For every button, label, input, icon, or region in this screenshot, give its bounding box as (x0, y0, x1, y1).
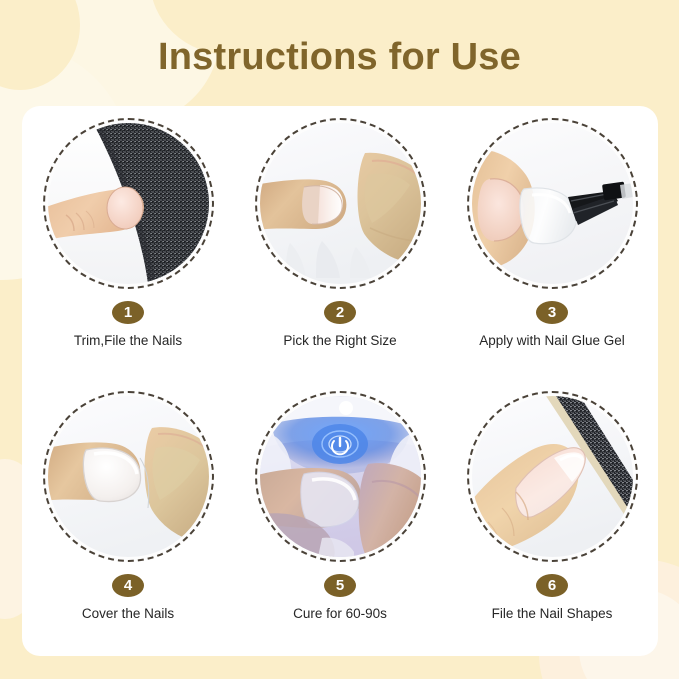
instructions-infographic: Instructions for Use (0, 0, 679, 679)
step-caption-2: Pick the Right Size (283, 333, 396, 348)
step-item-4: 4 Cover the Nails (22, 385, 234, 658)
step-badge-4: 4 (112, 574, 144, 597)
step-badge-5: 5 (324, 574, 356, 597)
finger-with-nail-file-photo (48, 123, 209, 284)
step-badge-3: 3 (536, 301, 568, 324)
step-item-5: 5 Cure for 60-90s (234, 385, 446, 658)
comparing-nail-tip-size-photo (260, 123, 421, 284)
page-title: Instructions for Use (0, 36, 679, 79)
placing-tip-over-nail-photo (48, 396, 209, 557)
step-item-1: 1 Trim,File the Nails (22, 112, 234, 385)
step-caption-5: Cure for 60-90s (293, 606, 387, 621)
photo-frame-6 (467, 391, 638, 562)
photo-frame-5 (255, 391, 426, 562)
step-item-6: 6 File the Nail Shapes (446, 385, 658, 658)
step-badge-2: 2 (324, 301, 356, 324)
photo-frame-3 (467, 118, 638, 289)
step-caption-1: Trim,File the Nails (74, 333, 182, 348)
steps-grid: 1 Trim,File the Nails (22, 112, 658, 657)
photo-frame-2 (255, 118, 426, 289)
filing-almond-nail-photo (472, 396, 633, 557)
photo-frame-1 (43, 118, 214, 289)
step-item-3: 3 Apply with Nail Glue Gel (446, 112, 658, 385)
photo-frame-4 (43, 391, 214, 562)
step-item-2: 2 Pick the Right Size (234, 112, 446, 385)
step-caption-3: Apply with Nail Glue Gel (479, 333, 625, 348)
step-caption-6: File the Nail Shapes (492, 606, 613, 621)
step-caption-4: Cover the Nails (82, 606, 174, 621)
applying-glue-gel-brush-photo (472, 123, 633, 284)
uv-led-lamp-curing-photo (260, 396, 421, 557)
step-badge-1: 1 (112, 301, 144, 324)
step-badge-6: 6 (536, 574, 568, 597)
